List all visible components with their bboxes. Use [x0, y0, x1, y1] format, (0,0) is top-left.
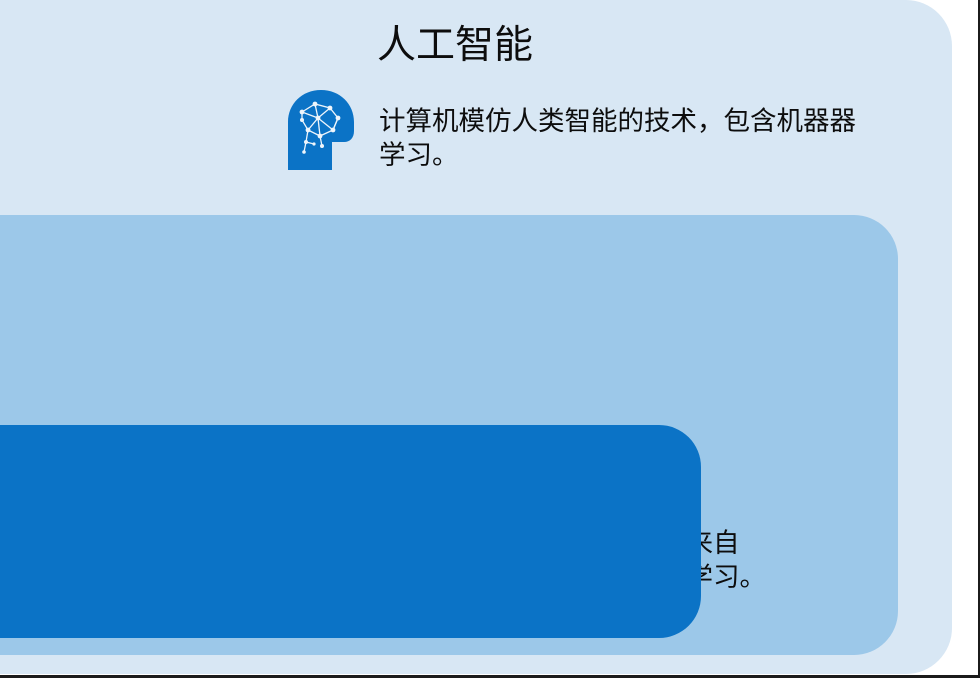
- diagram-canvas: 人工智能: [0, 0, 980, 678]
- level-deep-learning[interactable]: 深度学习 机器学习的子集，基于人工神经网络使机器 可以自我训练，从而更好地完成任…: [0, 425, 701, 638]
- ai-description: 计算机模仿人类智能的技术，包含机器器 学习。: [379, 104, 899, 172]
- brain-head-icon: [288, 90, 354, 170]
- ai-heading: 人工智能: [377, 26, 533, 65]
